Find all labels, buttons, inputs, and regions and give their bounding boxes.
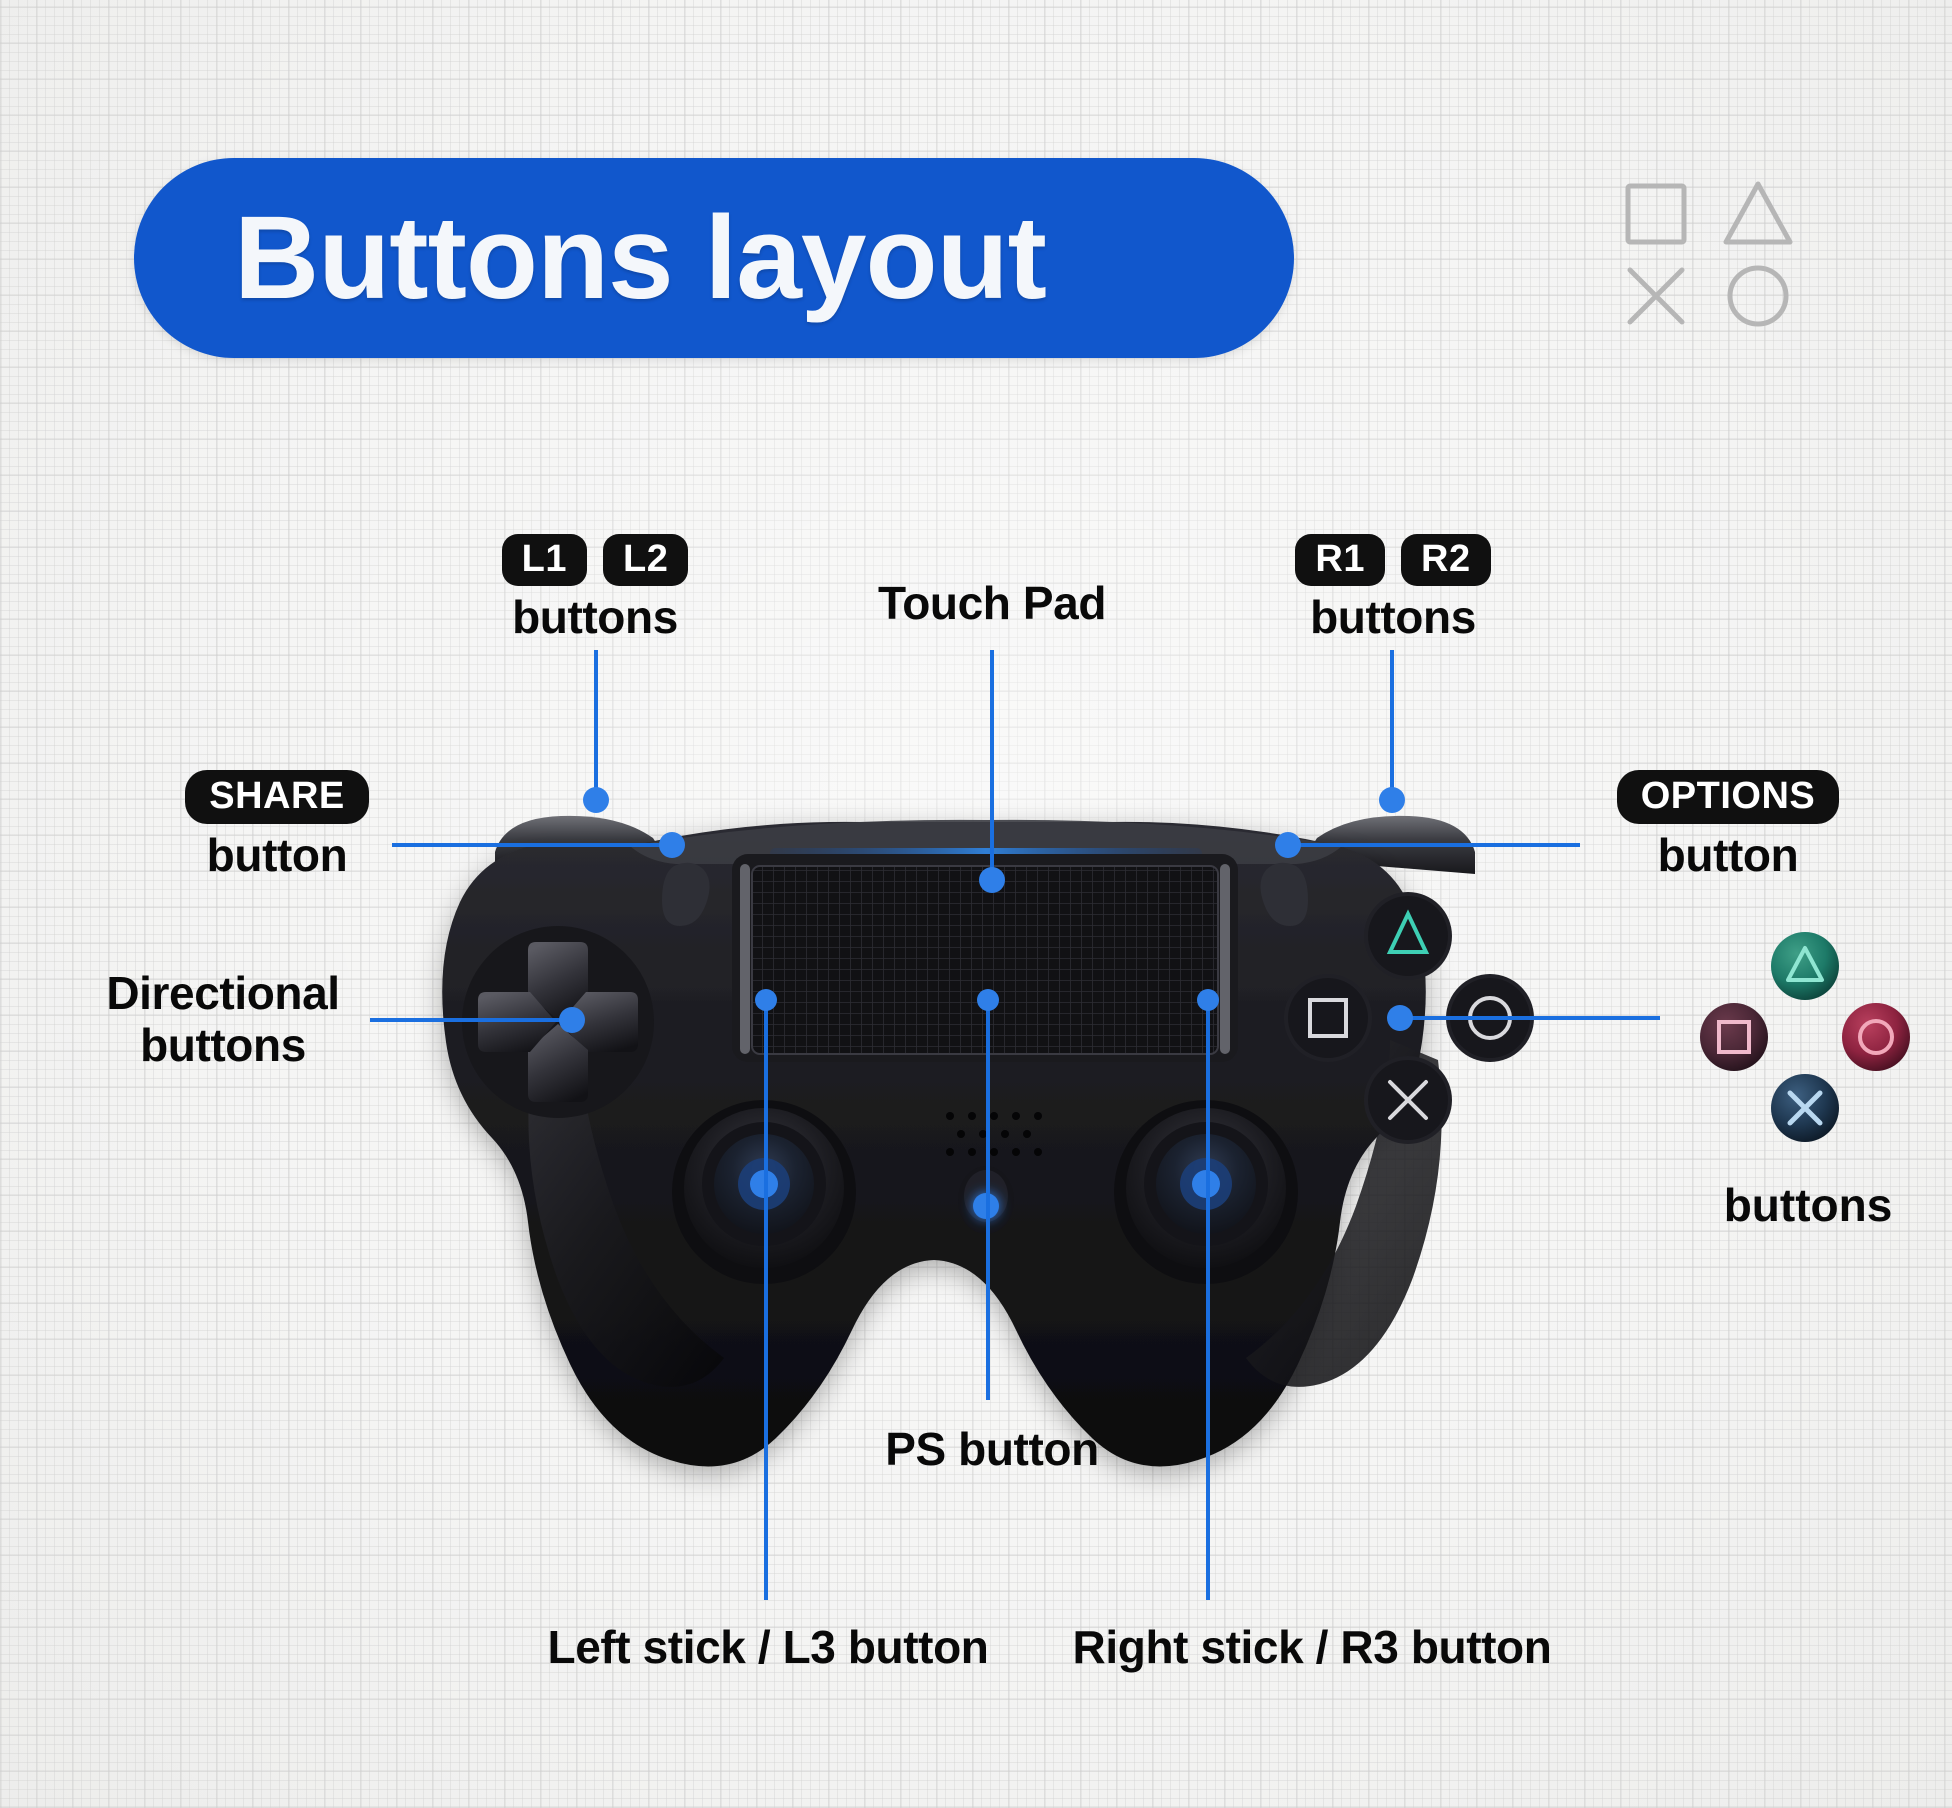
cross-glyph [1630, 270, 1682, 322]
r-buttons-sublabel: buttons [1228, 592, 1558, 644]
page-title: Buttons layout [234, 199, 1046, 317]
diagram-stage: Buttons layout [0, 0, 1952, 1808]
callout-touch-pad: Touch Pad [832, 578, 1152, 630]
callout-right-stick: Right stick / R3 button [1012, 1622, 1612, 1674]
dpad[interactable] [462, 926, 654, 1118]
badge-l2: L2 [603, 534, 688, 586]
controller-cross-button [1364, 1056, 1452, 1144]
square-glyph [1628, 186, 1684, 242]
callout-l-buttons: L1 L2 buttons [430, 534, 760, 644]
callout-left-stick: Left stick / L3 button [428, 1622, 1108, 1674]
badge-r2: R2 [1401, 534, 1491, 586]
badge-l1: L1 [502, 534, 587, 586]
left-stick[interactable] [672, 1100, 856, 1284]
playstation-symbols-decoration [1618, 178, 1818, 338]
face-buttons-cluster [1690, 930, 1920, 1160]
circle-glyph [1730, 268, 1786, 324]
controller-square-button [1284, 974, 1372, 1062]
triangle-glyph [1726, 184, 1790, 242]
badge-r1: R1 [1295, 534, 1385, 586]
triangle-button[interactable] [1771, 932, 1839, 1000]
callout-action-buttons: buttons [1668, 1178, 1948, 1232]
touch-pad[interactable] [732, 854, 1238, 1062]
square-button[interactable] [1700, 1003, 1768, 1071]
controller-triangle-button [1364, 892, 1452, 980]
right-stick[interactable] [1114, 1100, 1298, 1284]
cross-button[interactable] [1771, 1074, 1839, 1142]
callout-r-buttons: R1 R2 buttons [1228, 534, 1558, 644]
l-badges: L1 L2 [430, 534, 760, 586]
controller-circle-button [1446, 974, 1534, 1062]
r-badges: R1 R2 [1228, 534, 1558, 586]
ps-button[interactable] [958, 1166, 1014, 1234]
title-banner: Buttons layout [134, 158, 1294, 358]
l-buttons-sublabel: buttons [430, 592, 760, 644]
circle-button[interactable] [1842, 1003, 1910, 1071]
dualshock-controller-illustration [300, 760, 1670, 1560]
